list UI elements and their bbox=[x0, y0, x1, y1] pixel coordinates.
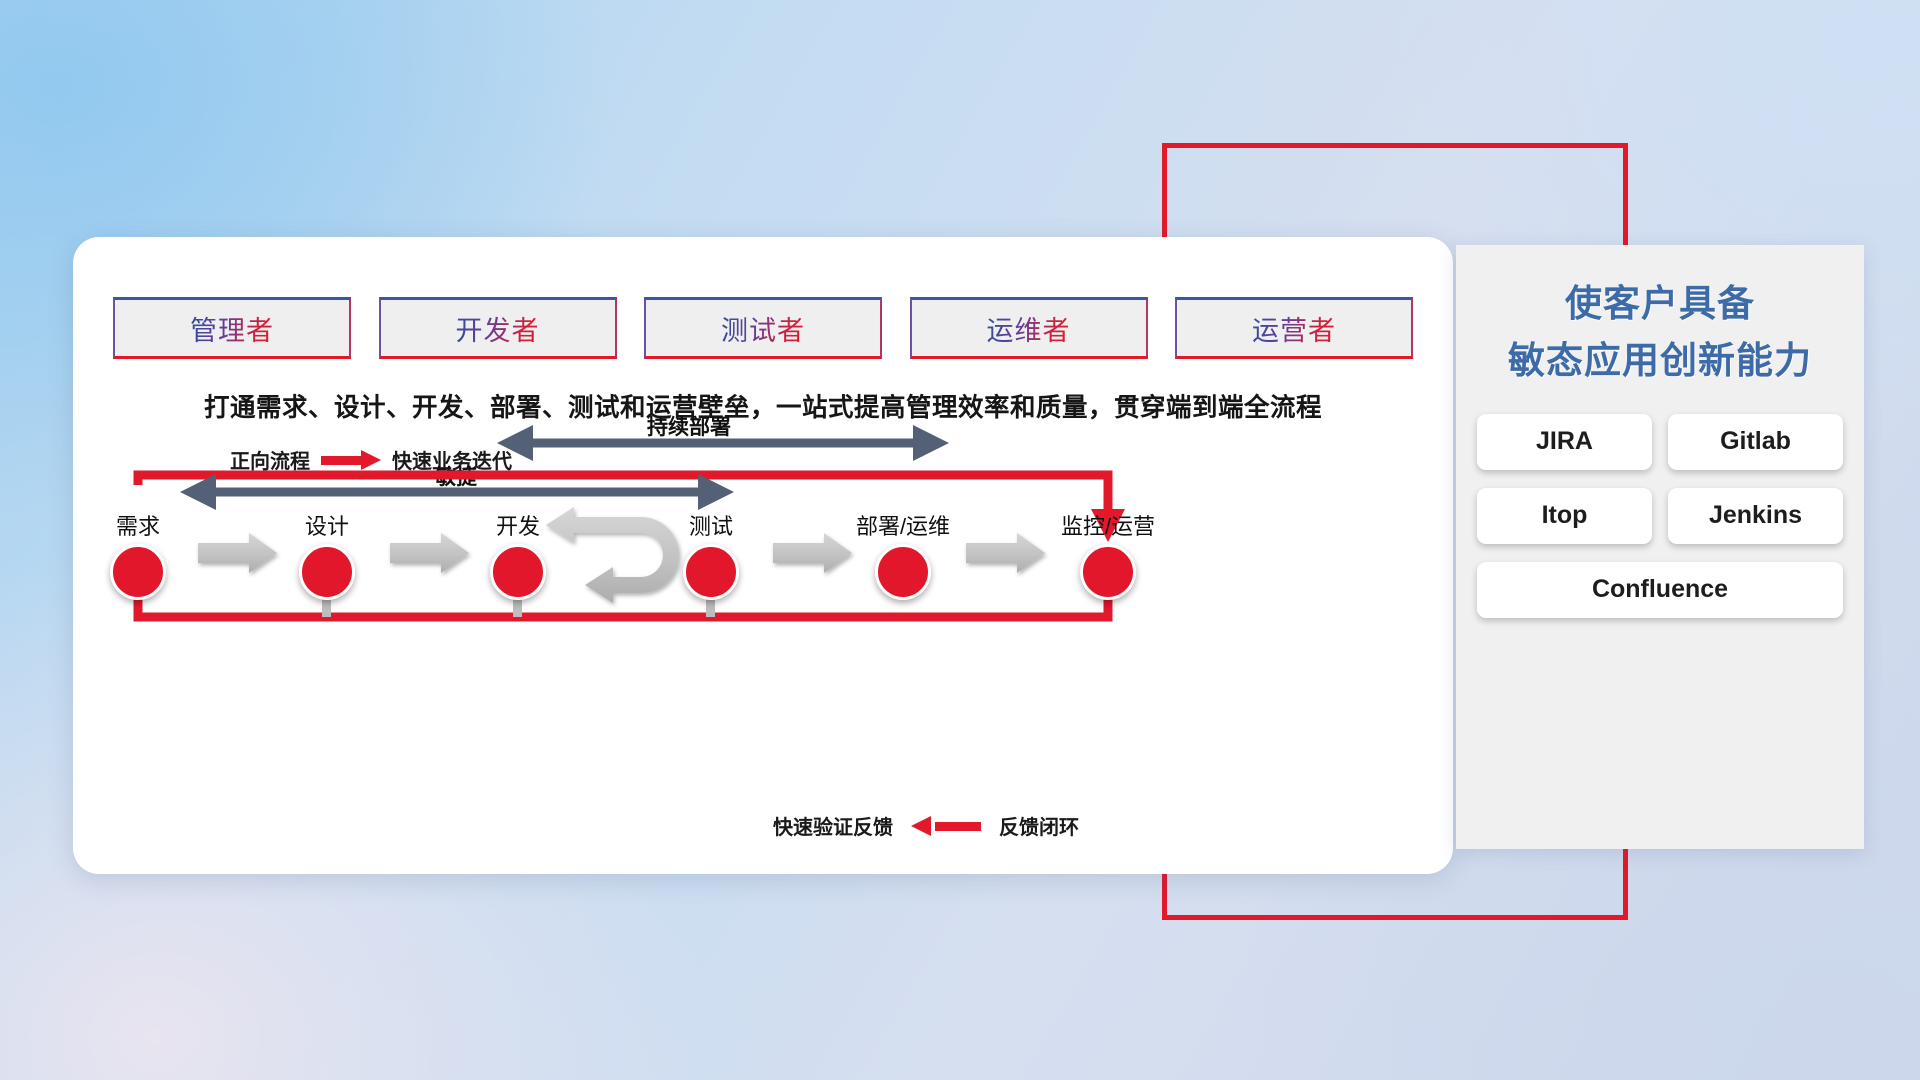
tool-label: JIRA bbox=[1536, 427, 1593, 456]
stage-dot-icon bbox=[875, 544, 931, 600]
stage-dot-icon bbox=[1080, 544, 1136, 600]
tool-label: Jenkins bbox=[1709, 501, 1802, 530]
stage-node-monitor-operate[interactable]: 监控/运营 bbox=[1043, 509, 1173, 600]
tool-label: Confluence bbox=[1592, 575, 1728, 604]
arrow-right-icon bbox=[321, 452, 381, 468]
feedback-loop-legend: 快速验证反馈 反馈闭环 bbox=[773, 811, 1079, 840]
stage-label: 开发 bbox=[453, 509, 583, 541]
role-box-developer[interactable]: 开发者 bbox=[379, 297, 617, 359]
stage-node-deploy-ops[interactable]: 部署/运维 bbox=[838, 509, 968, 600]
slide-canvas: 管理者 开发者 测试者 运维者 运营者 打通需求、设计、开发、部署、测试和运营壁… bbox=[0, 0, 1920, 1080]
panel-title: 使客户具备 敏态应用创新能力 bbox=[1456, 275, 1864, 390]
stage-node-design[interactable]: 设计 bbox=[262, 509, 392, 600]
stage-dot-icon bbox=[683, 544, 739, 600]
role-box-tester[interactable]: 测试者 bbox=[644, 297, 882, 359]
arrow-left-icon bbox=[911, 818, 981, 834]
span-label-agile: 敏捷 bbox=[435, 461, 477, 491]
headline-text: 打通需求、设计、开发、部署、测试和运营壁垒，一站式提高管理效率和质量，贯穿端到端… bbox=[73, 387, 1453, 424]
stage-dot-icon bbox=[490, 544, 546, 600]
panel-title-line1: 使客户具备 bbox=[1456, 275, 1864, 332]
role-label: 测试者 bbox=[721, 309, 805, 348]
feedback-target-label: 快速验证反馈 bbox=[773, 811, 893, 840]
stage-node-requirement[interactable]: 需求 bbox=[73, 509, 203, 600]
stage-dot-icon bbox=[299, 544, 355, 600]
tool-chip-itop[interactable]: Itop bbox=[1477, 488, 1652, 544]
stage-label: 设计 bbox=[262, 509, 392, 541]
role-boxes-row: 管理者 开发者 测试者 运维者 运营者 bbox=[113, 297, 1413, 359]
tool-chip-confluence[interactable]: Confluence bbox=[1477, 562, 1843, 618]
stage-label: 需求 bbox=[73, 509, 203, 541]
tool-chip-jenkins[interactable]: Jenkins bbox=[1668, 488, 1843, 544]
stage-node-testing[interactable]: 测试 bbox=[646, 509, 776, 600]
tool-label: Itop bbox=[1542, 501, 1588, 530]
panel-title-line2: 敏态应用创新能力 bbox=[1456, 332, 1864, 389]
block-arrow-deploy-to-monitor bbox=[966, 533, 1045, 573]
tool-label: Gitlab bbox=[1720, 427, 1791, 456]
role-box-operator[interactable]: 运营者 bbox=[1175, 297, 1413, 359]
stage-label: 部署/运维 bbox=[838, 509, 968, 541]
role-box-ops-engineer[interactable]: 运维者 bbox=[910, 297, 1148, 359]
stage-label: 监控/运营 bbox=[1043, 509, 1173, 541]
role-label: 运维者 bbox=[987, 309, 1071, 348]
tools-panel: 使客户具备 敏态应用创新能力 JIRA Gitlab Itop Jenkins … bbox=[1456, 245, 1864, 849]
feedback-source-label: 反馈闭环 bbox=[999, 811, 1079, 840]
span-label-continuous-deployment: 持续部署 bbox=[647, 411, 731, 441]
stage-node-development[interactable]: 开发 bbox=[453, 509, 583, 600]
forward-flow-source-label: 正向流程 bbox=[230, 445, 310, 474]
tools-grid: JIRA Gitlab Itop Jenkins Confluence bbox=[1468, 414, 1852, 618]
stage-dot-icon bbox=[110, 544, 166, 600]
role-box-manager[interactable]: 管理者 bbox=[113, 297, 351, 359]
stage-label: 测试 bbox=[646, 509, 776, 541]
tool-chip-gitlab[interactable]: Gitlab bbox=[1668, 414, 1843, 470]
tool-chip-jira[interactable]: JIRA bbox=[1477, 414, 1652, 470]
role-label: 运营者 bbox=[1252, 309, 1336, 348]
role-label: 开发者 bbox=[456, 309, 540, 348]
role-label: 管理者 bbox=[190, 309, 274, 348]
main-content-card: 管理者 开发者 测试者 运维者 运营者 打通需求、设计、开发、部署、测试和运营壁… bbox=[73, 237, 1453, 874]
